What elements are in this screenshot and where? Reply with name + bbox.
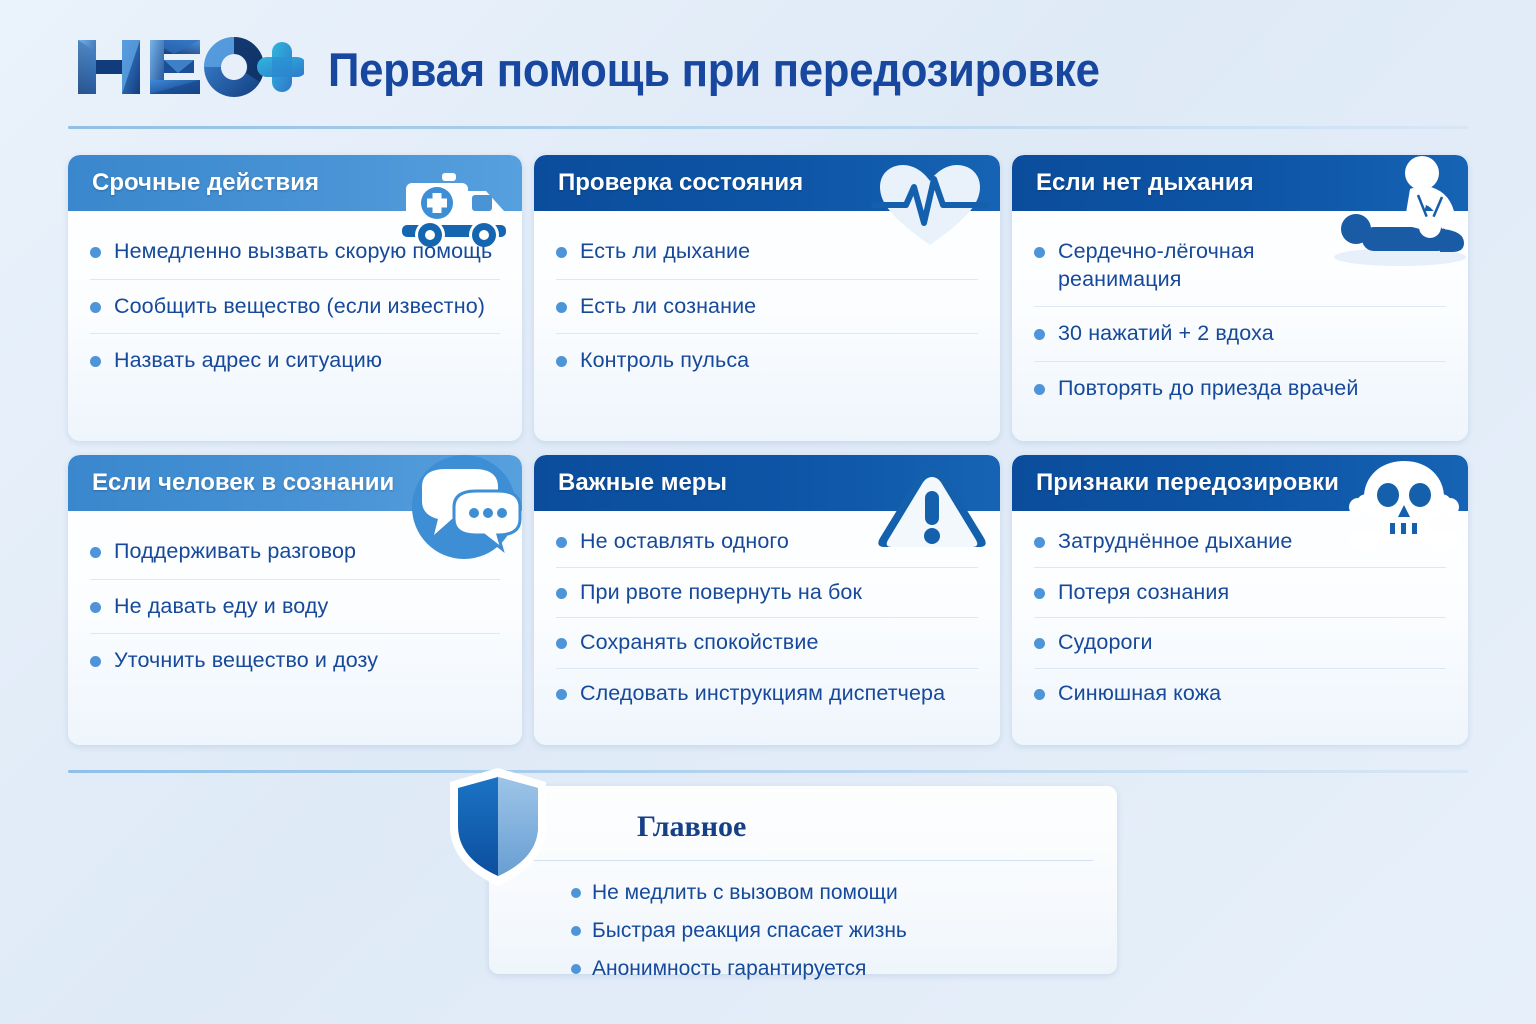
list-item[interactable]: Контроль пульса (556, 334, 978, 388)
list-item[interactable]: Не медлить с вызовом помощи (571, 874, 907, 912)
bullet-dot-icon (90, 356, 101, 367)
card-title: Признаки передозировки (1036, 469, 1339, 497)
card-body: Поддерживать разговор Не давать еду и во… (68, 511, 522, 698)
list-item-label: Быстрая реакция спасает жизнь (592, 919, 907, 943)
list-item-label: Судороги (1058, 629, 1153, 657)
bullet-dot-icon (556, 588, 567, 599)
bullet-dot-icon (571, 964, 581, 974)
card-header: Проверка состояния (534, 155, 1000, 211)
card-title: Важные меры (558, 469, 727, 497)
summary-divider (515, 860, 1093, 861)
card-body: Не оставлять одного При рвоте повернуть … (534, 511, 1000, 728)
card-header: Признаки передозировки (1012, 455, 1468, 511)
list-item[interactable]: Есть ли сознание (556, 280, 978, 335)
bullet-dot-icon (90, 547, 101, 558)
bullet-dot-icon (556, 537, 567, 548)
bullet-dot-icon (1034, 329, 1045, 340)
list-item-label: Анонимность гарантируется (592, 957, 866, 981)
card-header: Срочные действия (68, 155, 522, 211)
list-item-label: Потеря сознания (1058, 579, 1229, 607)
list-item-label: Контроль пульса (580, 347, 749, 375)
list-item[interactable]: Синюшная кожа (1034, 669, 1446, 719)
bullet-dot-icon (90, 247, 101, 258)
card-body: Сердечно-лёгочная реанимация 30 нажатий … (1012, 211, 1468, 425)
list-item-label: Сохранять спокойствие (580, 629, 819, 657)
card-body: Затруднённое дыхание Потеря сознания Суд… (1012, 511, 1468, 728)
list-item[interactable]: Анонимность гарантируется (571, 950, 907, 988)
list-item[interactable]: Судороги (1034, 618, 1446, 669)
list-item-label: Затруднённое дыхание (1058, 528, 1292, 556)
list-item[interactable]: 30 нажатий + 2 вдоха (1034, 307, 1446, 362)
bullet-dot-icon (556, 247, 567, 258)
list-item-label: При рвоте повернуть на бок (580, 579, 862, 607)
list-item-label: Есть ли сознание (580, 293, 756, 321)
list-item[interactable]: Затруднённое дыхание (1034, 517, 1446, 568)
shield-icon (442, 764, 554, 890)
card-header: Если человек в сознании (68, 455, 522, 511)
bullet-dot-icon (90, 656, 101, 667)
bullet-dot-icon (556, 689, 567, 700)
list-item[interactable]: Следовать инструкциям диспетчера (556, 669, 978, 719)
card-condition-check[interactable]: Проверка состояния Есть ли дыхание Есть … (534, 155, 1000, 441)
bullet-dot-icon (1034, 638, 1045, 649)
card-urgent-actions[interactable]: Срочные действия Немедленн (68, 155, 522, 441)
list-item[interactable]: Немедленно вызвать скорую помощь (90, 225, 500, 280)
list-item[interactable]: Не давать еду и воду (90, 580, 500, 635)
list-item-label: Синюшная кожа (1058, 680, 1221, 708)
card-title: Если человек в сознании (92, 469, 394, 497)
card-title: Проверка состояния (558, 169, 803, 197)
list-item[interactable]: Назвать адрес и ситуацию (90, 334, 500, 388)
list-item[interactable]: Сохранять спокойствие (556, 618, 978, 669)
bullet-dot-icon (90, 602, 101, 613)
list-item[interactable]: Сердечно-лёгочная реанимация (1034, 225, 1446, 307)
neo-plus-logo-icon (74, 32, 304, 102)
list-item[interactable]: Потеря сознания (1034, 568, 1446, 619)
bullet-dot-icon (556, 638, 567, 649)
list-item-label: 30 нажатий + 2 вдоха (1058, 320, 1274, 348)
list-item-label: Не медлить с вызовом помощи (592, 881, 898, 905)
bullet-dot-icon (1034, 247, 1045, 258)
list-item-label: Сообщить вещество (если известно) (114, 293, 485, 321)
list-item[interactable]: Быстрая реакция спасает жизнь (571, 912, 907, 950)
card-overdose-signs[interactable]: Признаки передозировки Затруднённое дыха… (1012, 455, 1468, 745)
bullet-dot-icon (1034, 588, 1045, 599)
card-header: Важные меры (534, 455, 1000, 511)
card-title: Если нет дыхания (1036, 169, 1254, 197)
card-header: Если нет дыхания (1012, 155, 1468, 211)
list-item-label: Не давать еду и воду (114, 593, 328, 621)
page-header: Первая помощь при передозировке (0, 0, 1536, 132)
bullet-dot-icon (1034, 384, 1045, 395)
list-item[interactable]: Повторять до приезда врачей (1034, 362, 1446, 416)
list-item-label: Поддерживать разговор (114, 538, 356, 566)
list-item-label: Повторять до приезда врачей (1058, 375, 1358, 403)
list-item-label: Не оставлять одного (580, 528, 789, 556)
list-item-label: Сердечно-лёгочная реанимация (1058, 238, 1290, 293)
bullet-dot-icon (1034, 689, 1045, 700)
summary-panel[interactable]: Главное Не медлить с вызовом помощи Быст… (489, 786, 1117, 974)
bullet-dot-icon (571, 926, 581, 936)
bullet-dot-icon (556, 302, 567, 313)
list-item[interactable]: При рвоте повернуть на бок (556, 568, 978, 619)
card-body: Есть ли дыхание Есть ли сознание Контрол… (534, 211, 1000, 398)
bullet-dot-icon (90, 302, 101, 313)
card-important-measures[interactable]: Важные меры Не оставлять одного При рвот… (534, 455, 1000, 745)
bullet-dot-icon (1034, 537, 1045, 548)
list-item-label: Есть ли дыхание (580, 238, 750, 266)
card-no-breathing[interactable]: Если нет дыхания Сердечно-лёгочная реани… (1012, 155, 1468, 441)
card-body: Немедленно вызвать скорую помощь Сообщит… (68, 211, 522, 398)
list-item[interactable]: Есть ли дыхание (556, 225, 978, 280)
list-item[interactable]: Поддерживать разговор (90, 525, 500, 580)
summary-list: Не медлить с вызовом помощи Быстрая реак… (571, 874, 907, 988)
summary-title: Главное (637, 810, 746, 844)
bullet-dot-icon (571, 888, 581, 898)
card-person-conscious[interactable]: Если человек в сознании Поддерживать раз… (68, 455, 522, 745)
list-item[interactable]: Уточнить вещество и дозу (90, 634, 500, 688)
list-item[interactable]: Сообщить вещество (если известно) (90, 280, 500, 335)
list-item-label: Немедленно вызвать скорую помощь (114, 238, 492, 266)
page-title: Первая помощь при передозировке (328, 42, 1100, 97)
header-divider (68, 126, 1468, 129)
list-item-label: Следовать инструкциям диспетчера (580, 680, 945, 708)
list-item-label: Назвать адрес и ситуацию (114, 347, 382, 375)
card-title: Срочные действия (92, 169, 319, 197)
list-item-label: Уточнить вещество и дозу (114, 647, 378, 675)
list-item[interactable]: Не оставлять одного (556, 517, 978, 568)
bottom-divider (68, 770, 1468, 773)
bullet-dot-icon (556, 356, 567, 367)
brand-logo (74, 32, 304, 102)
